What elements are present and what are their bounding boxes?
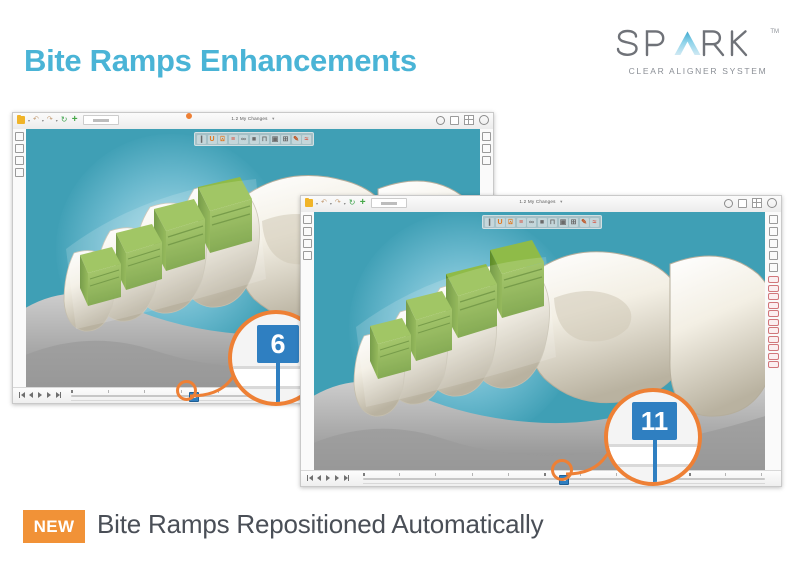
angle-tool-icon[interactable] xyxy=(15,156,24,165)
wave-icon[interactable]: ≈ xyxy=(302,135,311,144)
tooth-item[interactable] xyxy=(768,344,779,351)
layout-grid-icon[interactable] xyxy=(464,115,474,125)
window-title-back[interactable]: 1.2 My Changes ▾ xyxy=(13,116,493,122)
save-icon[interactable] xyxy=(450,116,459,125)
tooth-item[interactable] xyxy=(768,310,779,317)
wrench-icon[interactable] xyxy=(482,132,491,141)
left-toolrail-front[interactable] xyxy=(301,212,315,471)
crop-tool-icon[interactable] xyxy=(303,251,312,260)
float-toolbar-back[interactable]: ❙ U ⍓ ≡ ∞ ■ ⊓ ▣ ⊞ ✎ ≈ xyxy=(194,132,314,146)
window-title-front[interactable]: 1.2 My Changes ▾ xyxy=(301,199,781,205)
spark-wordmark-svg xyxy=(610,28,778,64)
pen-icon[interactable]: ✎ xyxy=(292,135,301,144)
save-icon[interactable] xyxy=(738,199,747,208)
new-badge: NEW xyxy=(23,510,85,543)
measure-tool-icon[interactable] xyxy=(15,144,24,153)
window-title-text-back: 1.2 My Changes xyxy=(231,116,267,121)
measure-tool-icon[interactable] xyxy=(303,227,312,236)
trademark-symbol: TM xyxy=(770,29,779,35)
page-title: Bite Ramps Enhancements xyxy=(24,43,417,79)
float-toolbar-front[interactable]: ❙ U ⍓ ≡ ∞ ■ ⊓ ▣ ⊞ ✎ ≈ xyxy=(482,215,602,229)
header: Bite Ramps Enhancements xyxy=(0,0,800,105)
tooth-item[interactable] xyxy=(768,361,779,368)
transport-controls-front[interactable] xyxy=(307,475,349,481)
lower-arch-icon[interactable]: ⍓ xyxy=(506,218,515,227)
spark-logo: TM CLEAR ALIGNER SYSTEM xyxy=(610,28,778,82)
stripes-icon[interactable]: ≡ xyxy=(517,218,526,227)
angle-tool-icon[interactable] xyxy=(303,239,312,248)
window-title-chevron-down-icon-front: ▾ xyxy=(560,199,563,204)
attachment-icon[interactable] xyxy=(482,156,491,165)
skip-start-button[interactable] xyxy=(307,475,313,481)
occlusion-icon[interactable]: ∞ xyxy=(527,218,536,227)
wrench-icon[interactable] xyxy=(769,215,778,224)
callout-flag-6: 6 xyxy=(257,325,299,363)
tooth-item[interactable] xyxy=(768,327,779,334)
skip-end-button[interactable] xyxy=(343,475,349,481)
skip-start-button[interactable] xyxy=(19,392,25,398)
tooth-item[interactable] xyxy=(768,302,779,309)
square-icon[interactable]: ■ xyxy=(250,135,259,144)
select-tool-icon[interactable] xyxy=(15,132,24,141)
lower-arch-icon[interactable]: ⍓ xyxy=(218,135,227,144)
timeline-marker-ring-back xyxy=(186,113,192,119)
window-toolbar-front: ▾ ↶ ▾ ↷ ▾ ↻ + 1.2 My Changes ▾ xyxy=(301,196,781,213)
tooth-item[interactable] xyxy=(768,293,779,300)
bracket-icon[interactable]: ⊓ xyxy=(260,135,269,144)
tooth-item[interactable] xyxy=(768,336,779,343)
step-forward-button[interactable] xyxy=(334,475,340,481)
player-bar-front[interactable] xyxy=(301,470,781,486)
callout-circle-11: 11 xyxy=(604,388,702,486)
pen-icon[interactable]: ✎ xyxy=(580,218,589,227)
right-toolrail-front[interactable] xyxy=(764,212,781,471)
callout-stage-11: 11 xyxy=(604,388,702,486)
crop-tool-icon[interactable] xyxy=(15,168,24,177)
upper-arch-icon[interactable]: U xyxy=(208,135,217,144)
callout-pole-11 xyxy=(653,436,657,486)
footer: NEW Bite Ramps Repositioned Automaticall… xyxy=(0,497,800,569)
occlusion-icon[interactable]: ∞ xyxy=(239,135,248,144)
attachment-icon[interactable]: ▣ xyxy=(271,135,280,144)
settings-gear-icon[interactable] xyxy=(767,198,777,208)
square-icon[interactable]: ■ xyxy=(538,218,547,227)
tooth-item[interactable] xyxy=(768,319,779,326)
window-toolbar-back: ▾ ↶ ▾ ↷ ▾ ↻ + 1.2 My Changes ▾ xyxy=(13,113,493,130)
callout-flag-11: 11 xyxy=(632,402,677,440)
tooth-item[interactable] xyxy=(768,353,779,360)
upper-arch-icon[interactable]: U xyxy=(496,218,505,227)
app-window-front[interactable]: ▾ ↶ ▾ ↷ ▾ ↻ + 1.2 My Changes ▾ xyxy=(300,195,782,487)
window-title-text-front: 1.2 My Changes xyxy=(519,199,555,204)
play-button[interactable] xyxy=(37,392,43,398)
rotate-icon[interactable] xyxy=(769,263,778,272)
skip-end-button[interactable] xyxy=(55,392,61,398)
tooth-item[interactable] xyxy=(768,276,779,283)
tooth-item[interactable] xyxy=(768,285,779,292)
step-back-button[interactable] xyxy=(316,475,322,481)
callout-pole-6 xyxy=(276,358,280,406)
play-button[interactable] xyxy=(325,475,331,481)
window-title-chevron-down-icon-back: ▾ xyxy=(272,116,275,121)
footer-caption: Bite Ramps Repositioned Automatically xyxy=(97,509,543,540)
grid-icon[interactable]: ⊞ xyxy=(281,135,290,144)
spark-wordmark: TM xyxy=(610,28,778,62)
spark-tagline: CLEAR ALIGNER SYSTEM xyxy=(618,66,778,76)
attachment-icon[interactable] xyxy=(769,239,778,248)
select-icon[interactable]: ❙ xyxy=(485,218,494,227)
camera-icon[interactable] xyxy=(769,227,778,236)
toolbar-right-group-front xyxy=(724,198,777,208)
toolbar-right-group-back xyxy=(436,115,489,125)
step-forward-button[interactable] xyxy=(46,392,52,398)
tooth-list[interactable] xyxy=(765,276,781,368)
step-back-button[interactable] xyxy=(28,392,34,398)
camera-icon[interactable] xyxy=(482,144,491,153)
wave-icon[interactable]: ≈ xyxy=(590,218,599,227)
bracket-icon[interactable]: ⊓ xyxy=(548,218,557,227)
select-icon[interactable]: ❙ xyxy=(197,135,206,144)
select-tool-icon[interactable] xyxy=(303,215,312,224)
layout-grid-icon[interactable] xyxy=(752,198,762,208)
transport-controls-back[interactable] xyxy=(19,392,61,398)
stripes-icon[interactable]: ≡ xyxy=(229,135,238,144)
left-toolrail-back[interactable] xyxy=(13,129,27,388)
settings-gear-icon[interactable] xyxy=(479,115,489,125)
user-icon[interactable] xyxy=(436,116,445,125)
attachment-icon[interactable]: ▣ xyxy=(559,218,568,227)
user-icon[interactable] xyxy=(724,199,733,208)
grid-icon[interactable]: ⊞ xyxy=(569,218,578,227)
lock-icon[interactable] xyxy=(769,251,778,260)
